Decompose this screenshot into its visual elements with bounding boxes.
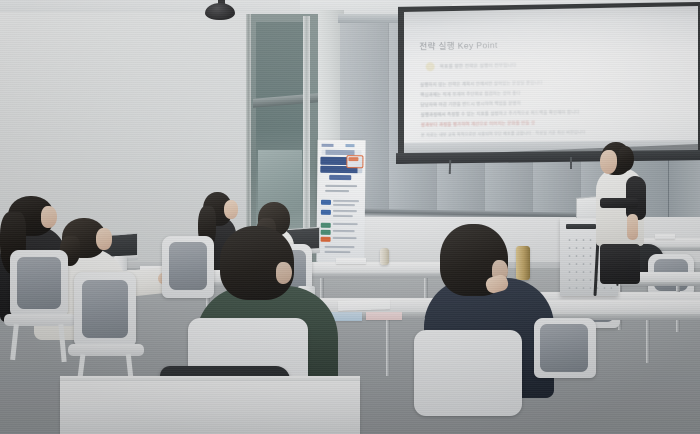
chair-left-back-mesh <box>17 257 61 309</box>
banner-line-7 <box>333 237 357 239</box>
chair-right-aisle-mesh <box>540 324 588 372</box>
banner-line-8 <box>325 246 355 248</box>
slide-bullet-2: 핵심과제는 작게 쪼개어 주단위로 점검하는 것이 좋다 <box>420 91 520 99</box>
banner-line-1 <box>333 200 359 202</box>
banner-line-2 <box>333 204 355 206</box>
slide-bullet-5: 성과보다 과정을 평가하여 개선으로 이어지는 문화를 만들 것 <box>421 120 535 128</box>
roll-up-banner[interactable] <box>316 140 365 262</box>
banner-logo-row <box>322 144 362 147</box>
student-black-top-face <box>41 206 57 228</box>
desk-middle-row <box>300 262 450 273</box>
banner-line-5 <box>333 223 358 225</box>
screen-cord-secondary <box>570 157 572 169</box>
banner-subline-1 <box>325 185 357 187</box>
desk-foreground <box>60 376 360 434</box>
banner-chip-4 <box>321 230 331 235</box>
projection-screen[interactable]: 전략 실행 Key Point 목표를 향한 전략은 실행이 전부입니다 실행하… <box>404 6 698 156</box>
banner-chip-5 <box>321 237 331 242</box>
banner-subline-2 <box>325 190 349 192</box>
banner-chip-1 <box>321 200 331 205</box>
slide-bullet-1: 실행하지 않는 전략은 계획서 안에서만 살아있는 문장일 뿐입니다 <box>420 80 543 88</box>
banner-badge-fill <box>348 157 358 161</box>
banner-line-4 <box>333 215 353 217</box>
banner-chip-3 <box>321 223 331 228</box>
presenter-arm <box>627 214 638 240</box>
chair-middle-left-mesh <box>169 242 207 290</box>
slide-content: 전략 실행 Key Point 목표를 향한 전략은 실행이 전부입니다 실행하… <box>404 6 698 156</box>
slide-bullet-marker <box>426 62 435 71</box>
presenter-hair-bun <box>618 146 634 171</box>
slide-bullet-3: 담당자와 마감 기한을 반드시 명시하여 책임을 분명히 <box>420 101 520 109</box>
slide-lead-text: 목표를 향한 전략은 실행이 전부입니다 <box>440 63 517 70</box>
chair-left-front-mesh <box>82 280 128 338</box>
banner-line-9 <box>324 251 350 253</box>
papers-center-pink <box>366 312 402 320</box>
desk-foreground-edge <box>60 376 360 381</box>
presenter-face <box>600 150 617 174</box>
student-middle-left-face <box>224 200 238 219</box>
chair-right-front[interactable] <box>414 330 522 416</box>
papers-center-1 <box>338 299 390 311</box>
banner-chip-2 <box>321 210 331 215</box>
papers-back-right <box>655 234 675 239</box>
banner-line-6 <box>333 230 355 232</box>
slide-bullet-4: 실행과정에서 측정할 수 있는 지표를 설정하고 주기적으로 피드백을 확인해야… <box>421 109 580 118</box>
slide-footer: 본 자료는 내부 교육 목적으로만 사용되며 무단 배포를 금합니다 · 작성일… <box>421 129 586 138</box>
presenter-belt <box>600 198 638 208</box>
banner-line-3 <box>333 210 357 212</box>
podium-slot <box>566 224 596 229</box>
tumbler-middle <box>380 248 389 265</box>
banner-year <box>329 175 351 180</box>
student-white-blouse-face <box>96 228 112 250</box>
classroom-photo: 전략 실행 Key Point 목표를 향한 전략은 실행이 전부입니다 실행하… <box>0 0 700 434</box>
desk-leg-c1 <box>386 318 390 376</box>
gold-tumbler <box>516 246 530 280</box>
ceiling-speaker-icon <box>205 3 235 20</box>
papers-middle-row <box>336 258 366 264</box>
presenter-lower <box>600 244 640 284</box>
glass-reflection <box>258 150 302 210</box>
slide-title: 전략 실행 Key Point <box>419 39 498 52</box>
